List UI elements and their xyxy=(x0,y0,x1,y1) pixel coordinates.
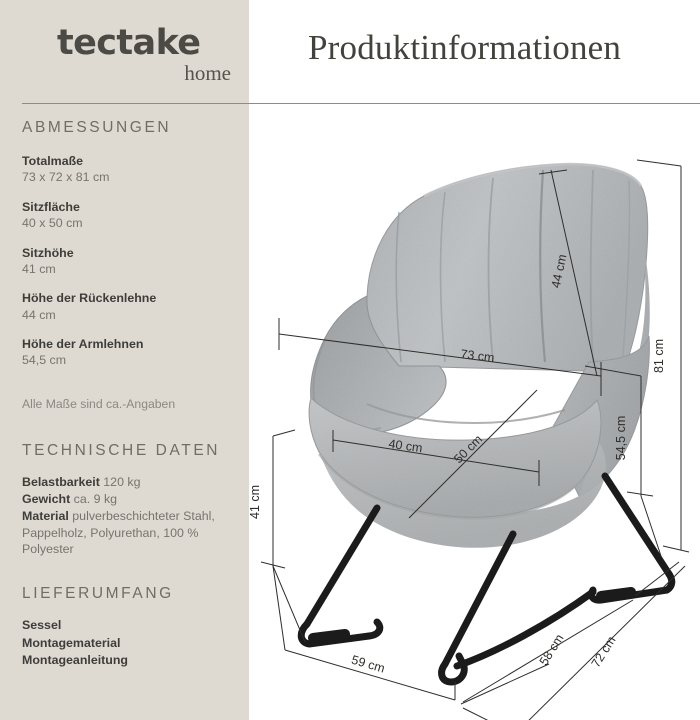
section-heading-delivery: LIEFERUMFANG xyxy=(22,585,174,603)
dimension-label: Sitzfläche xyxy=(22,199,237,215)
brand-logo: tectake home xyxy=(57,26,237,84)
list-item: Sitzfläche 40 x 50 cm xyxy=(22,199,237,232)
list-item: Montagematerial xyxy=(22,635,237,653)
list-item: Sessel xyxy=(22,617,237,635)
technical-list: Belastbarkeit 120 kg Gewicht ca. 9 kg Ma… xyxy=(22,474,240,558)
technical-label: Gewicht xyxy=(22,492,70,506)
label-seat-height: 41 cm xyxy=(249,485,262,519)
list-item: Totalmaße 73 x 72 x 81 cm xyxy=(22,153,237,186)
page-title: Produktinformationen xyxy=(308,28,621,68)
list-item: Belastbarkeit 120 kg xyxy=(22,474,240,491)
label-armrest-height: 54,5 cm xyxy=(614,416,628,460)
label-total-height: 81 cm xyxy=(652,339,666,373)
product-diagram: 73 cm 44 cm 50 cm 40 cm 81 cm 54,5 cm xyxy=(249,104,700,720)
dimension-value: 40 x 50 cm xyxy=(22,215,237,231)
dimension-value: 54,5 cm xyxy=(22,352,237,368)
list-item: Sitzhöhe 41 cm xyxy=(22,245,237,278)
section-heading-technical: TECHNISCHE DATEN xyxy=(22,442,220,460)
dimension-value: 44 cm xyxy=(22,307,237,323)
list-item: Gewicht ca. 9 kg xyxy=(22,491,240,508)
dimensions-note: Alle Maße sind ca.-Angaben xyxy=(22,396,242,412)
dimension-label: Höhe der Rückenlehne xyxy=(22,290,237,306)
product-information-sheet: tectake home Produktinformationen ABMESS… xyxy=(0,0,700,720)
list-item: Höhe der Rückenlehne 44 cm xyxy=(22,290,237,323)
section-heading-dimensions: ABMESSUNGEN xyxy=(22,119,171,137)
dimension-value: 73 x 72 x 81 cm xyxy=(22,169,237,185)
technical-label: Material xyxy=(22,509,69,523)
dimension-value: 41 cm xyxy=(22,261,237,277)
label-base-width: 59 cm xyxy=(350,653,387,676)
dimension-label: Sitzhöhe xyxy=(22,245,237,261)
label-base-depth: 58 cm xyxy=(537,632,567,668)
label-total-depth: 72 cm xyxy=(589,634,619,670)
delivery-list: Sessel Montagematerial Montageanleitung xyxy=(22,617,237,670)
logo-wordmark: tectake xyxy=(57,26,237,61)
dimension-label: Totalmaße xyxy=(22,153,237,169)
logo-subtitle: home xyxy=(57,63,237,84)
technical-value: ca. 9 kg xyxy=(74,492,117,506)
dimension-label: Höhe der Armlehnen xyxy=(22,336,237,352)
list-item: Höhe der Armlehnen 54,5 cm xyxy=(22,336,237,369)
dimensions-list: Totalmaße 73 x 72 x 81 cm Sitzfläche 40 … xyxy=(22,153,237,382)
list-item: Montageanleitung xyxy=(22,652,237,670)
list-item: Material pulverbeschichteter Stahl, Papp… xyxy=(22,508,240,559)
technical-label: Belastbarkeit xyxy=(22,475,100,489)
technical-value: 120 kg xyxy=(103,475,140,489)
